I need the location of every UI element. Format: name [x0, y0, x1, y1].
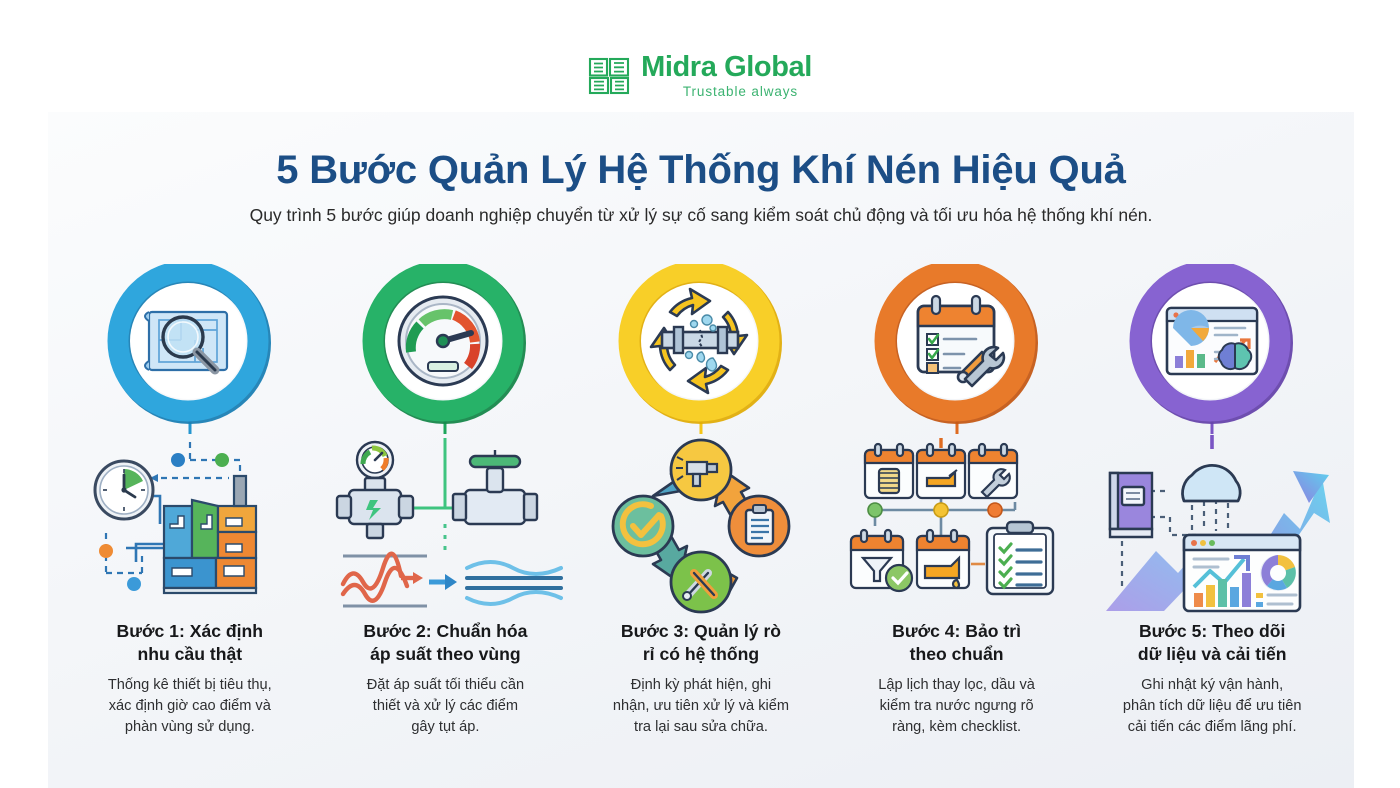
- step-1-description: Thống kê thiết bị tiêu thụ, xác định giờ…: [74, 675, 306, 737]
- step-3-desc-line3: tra lại sau sửa chữa.: [585, 717, 817, 738]
- step-1-title: Bước 1: Xác định nhu cầu thật: [77, 620, 303, 666]
- pressure-gauge-icon: [362, 264, 528, 434]
- step-card-2: Bước 2: Chuẩn hóa áp suất theo vùng Đặt …: [318, 264, 574, 738]
- step-1-title-line2: nhu cầu thật: [77, 643, 303, 666]
- step-4-title-line1: Bước 4: Bảo trì: [844, 620, 1070, 643]
- step-5-illustration: [1088, 438, 1336, 614]
- step-5-desc-line3: cải tiến các điểm lãng phí.: [1096, 717, 1328, 738]
- step-1-desc-line2: xác định giờ cao điểm và: [74, 696, 306, 717]
- leak-management-cycle-icon: [583, 438, 819, 614]
- step-4-title-line2: theo chuẩn: [844, 643, 1070, 666]
- infographic-panel: 5 Bước Quản Lý Hệ Thống Khí Nén Hiệu Quả…: [48, 112, 1354, 788]
- step-3-illustration: [583, 438, 819, 614]
- step-2-desc-line1: Đặt áp suất tối thiểu cần: [329, 675, 561, 696]
- step-card-3: Bước 3: Quản lý rò rỉ có hệ thống Định k…: [573, 264, 829, 738]
- step-2-description: Đặt áp suất tối thiểu cần thiết và xử lý…: [329, 675, 561, 737]
- leaking-pipe-cycle-icon: [618, 264, 784, 434]
- step-card-1: Bước 1: Xác định nhu cầu thật Thống kê t…: [62, 264, 318, 738]
- step-2-title-line2: áp suất theo vùng: [332, 643, 558, 666]
- step-2-desc-line2: thiết và xử lý các điểm: [329, 696, 561, 717]
- step-3-title: Bước 3: Quản lý rò rỉ có hệ thống: [588, 620, 814, 666]
- step-2-title-line1: Bước 2: Chuẩn hóa: [332, 620, 558, 643]
- step-4-badge: [874, 264, 1040, 434]
- step-3-badge: [618, 264, 784, 434]
- step-4-desc-line3: ràng, kèm checklist.: [841, 717, 1073, 738]
- brand-header: Midra Global Trustable always: [0, 50, 1400, 102]
- step-3-desc-line1: Định kỳ phát hiện, ghi: [585, 675, 817, 696]
- brand-tagline: Trustable always: [655, 85, 798, 99]
- step-5-title: Bước 5: Theo dõi dữ liệu và cải tiến: [1099, 620, 1325, 666]
- step-3-desc-line2: nhận, ưu tiên xử lý và kiểm: [585, 696, 817, 717]
- step-5-title-line2: dữ liệu và cải tiến: [1099, 643, 1325, 666]
- brand-text-block: Midra Global Trustable always: [641, 53, 812, 99]
- infographic-page: Midra Global Trustable always 5 Bước Quả…: [0, 0, 1400, 788]
- analytics-dashboard-brain-icon: [1129, 264, 1295, 434]
- step-card-5: Bước 5: Theo dõi dữ liệu và cải tiến Ghi…: [1084, 264, 1340, 738]
- step-5-desc-line2: phân tích dữ liệu để ưu tiên: [1096, 696, 1328, 717]
- page-subtitle: Quy trình 5 bước giúp doanh nghiệp chuyể…: [48, 205, 1354, 226]
- step-4-illustration: [837, 438, 1077, 614]
- maintenance-schedule-icon: [837, 438, 1077, 614]
- step-5-description: Ghi nhật ký vận hành, phân tích dữ liệu …: [1096, 675, 1328, 737]
- step-1-badge: [107, 264, 273, 434]
- step-2-desc-line3: gây tụt áp.: [329, 717, 561, 738]
- blueprint-magnifier-icon: [107, 264, 273, 434]
- regulator-valve-waveform-icon: [327, 438, 563, 614]
- step-5-title-line1: Bước 5: Theo dõi: [1099, 620, 1325, 643]
- step-3-description: Định kỳ phát hiện, ghi nhận, ưu tiên xử …: [585, 675, 817, 737]
- step-1-title-line1: Bước 1: Xác định: [77, 620, 303, 643]
- step-2-badge: [362, 264, 528, 434]
- step-4-desc-line2: kiểm tra nước ngưng rõ: [841, 696, 1073, 717]
- step-4-description: Lập lịch thay lọc, dầu và kiểm tra nước …: [841, 675, 1073, 737]
- step-2-title: Bước 2: Chuẩn hóa áp suất theo vùng: [332, 620, 558, 666]
- step-3-title-line2: rỉ có hệ thống: [588, 643, 814, 666]
- step-1-desc-line3: phàn vùng sử dụng.: [74, 717, 306, 738]
- step-1-illustration: [72, 438, 308, 614]
- calendar-checklist-tools-icon: [874, 264, 1040, 434]
- clock-factory-zones-icon: [72, 438, 308, 614]
- step-card-4: Bước 4: Bảo trì theo chuẩn Lập lịch thay…: [829, 264, 1085, 738]
- midra-pinwheel-logo-icon: [588, 57, 630, 95]
- step-4-title: Bước 4: Bảo trì theo chuẩn: [844, 620, 1070, 666]
- step-2-illustration: [327, 438, 563, 614]
- brand-name: Midra Global: [641, 53, 812, 82]
- step-5-badge: [1129, 264, 1295, 434]
- step-1-desc-line1: Thống kê thiết bị tiêu thụ,: [74, 675, 306, 696]
- step-4-desc-line1: Lập lịch thay lọc, dầu và: [841, 675, 1073, 696]
- step-3-title-line1: Bước 3: Quản lý rò: [588, 620, 814, 643]
- steps-row: Bước 1: Xác định nhu cầu thật Thống kê t…: [62, 264, 1340, 774]
- step-5-desc-line1: Ghi nhật ký vận hành,: [1096, 675, 1328, 696]
- page-title: 5 Bước Quản Lý Hệ Thống Khí Nén Hiệu Quả: [48, 148, 1354, 193]
- logbook-cloud-growth-icon: [1088, 435, 1336, 617]
